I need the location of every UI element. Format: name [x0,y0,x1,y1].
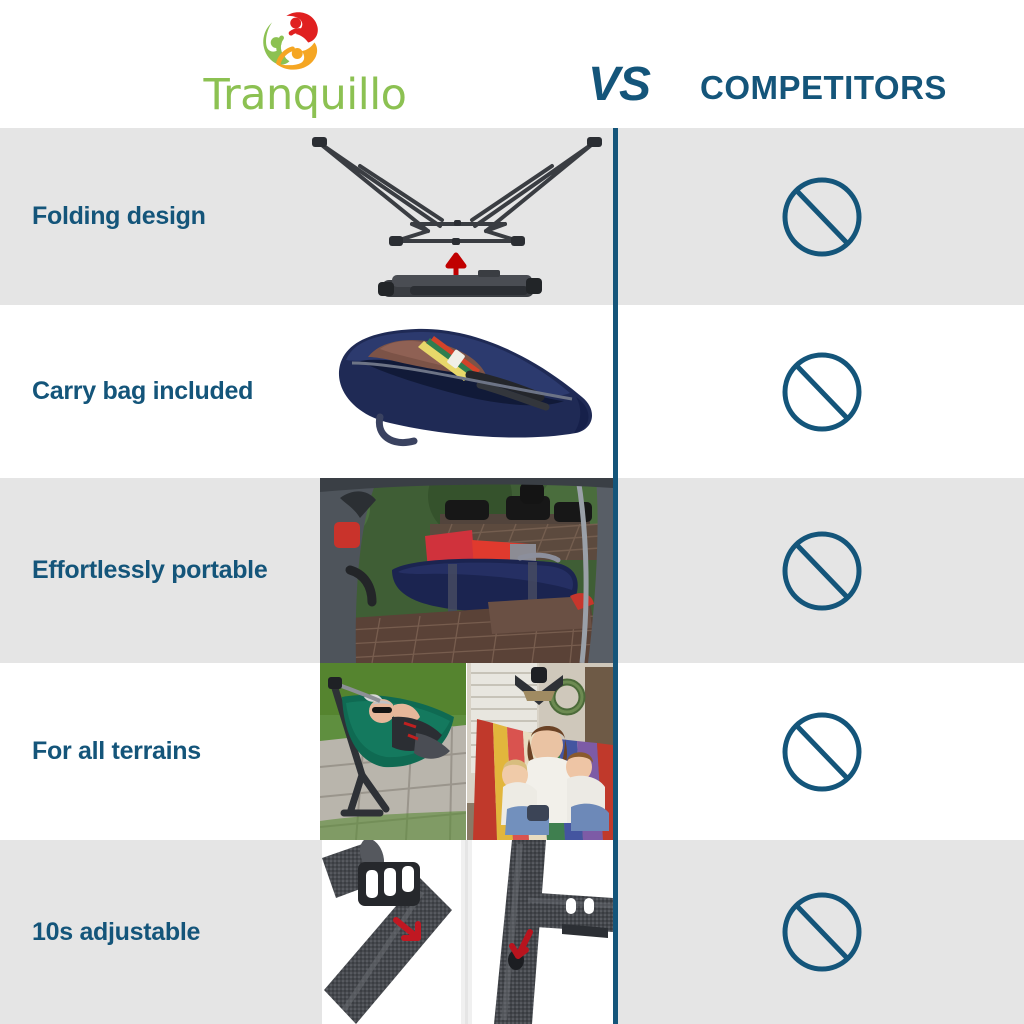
prohibition-circle-slash-icon [780,890,864,974]
row-media-adjust-pin [468,840,613,1024]
table-row: Carry bag included [0,305,1024,478]
tranquillo-three-figures-circle-logo [250,2,332,80]
prohibition-circle-slash-icon [780,175,864,259]
row-label: Folding design [32,200,322,232]
prohibition-circle-slash-icon [780,350,864,434]
competitor-cell [620,128,1024,305]
row-label: Carry bag included [32,375,322,407]
row-media-carry-bag [320,305,613,478]
comparison-infographic: Tranquillo VS COMPETITORS Folding design [0,0,1024,1024]
competitor-cell [620,305,1024,478]
competitor-cell [620,840,1024,1024]
competitors-label: COMPETITORS [700,66,1000,110]
row-media-adjust-bracket [322,840,465,1024]
table-row: For all terrains [0,663,1024,840]
competitor-cell [620,478,1024,663]
prohibition-circle-slash-icon [780,529,864,613]
row-label: Effortlessly portable [32,554,322,586]
header: Tranquillo VS COMPETITORS [0,0,1024,128]
row-media-terrain-patio [320,663,466,840]
row-media-car-trunk [320,478,613,663]
prohibition-circle-slash-icon [780,710,864,794]
column-divider [613,128,618,1024]
table-row: Effortlessly portable [0,478,1024,663]
table-row: 10s adjustable [0,840,1024,1024]
row-media-terrain-indoor [467,663,613,840]
row-label: For all terrains [32,735,322,767]
brand-logo: Tranquillo [190,2,420,124]
row-label: 10s adjustable [32,916,322,948]
competitor-cell [620,663,1024,840]
row-media-folding-design [300,128,613,305]
brand-wordmark: Tranquillo [190,70,420,120]
table-row: Folding design [0,128,1024,305]
vs-label: VS [570,55,668,115]
